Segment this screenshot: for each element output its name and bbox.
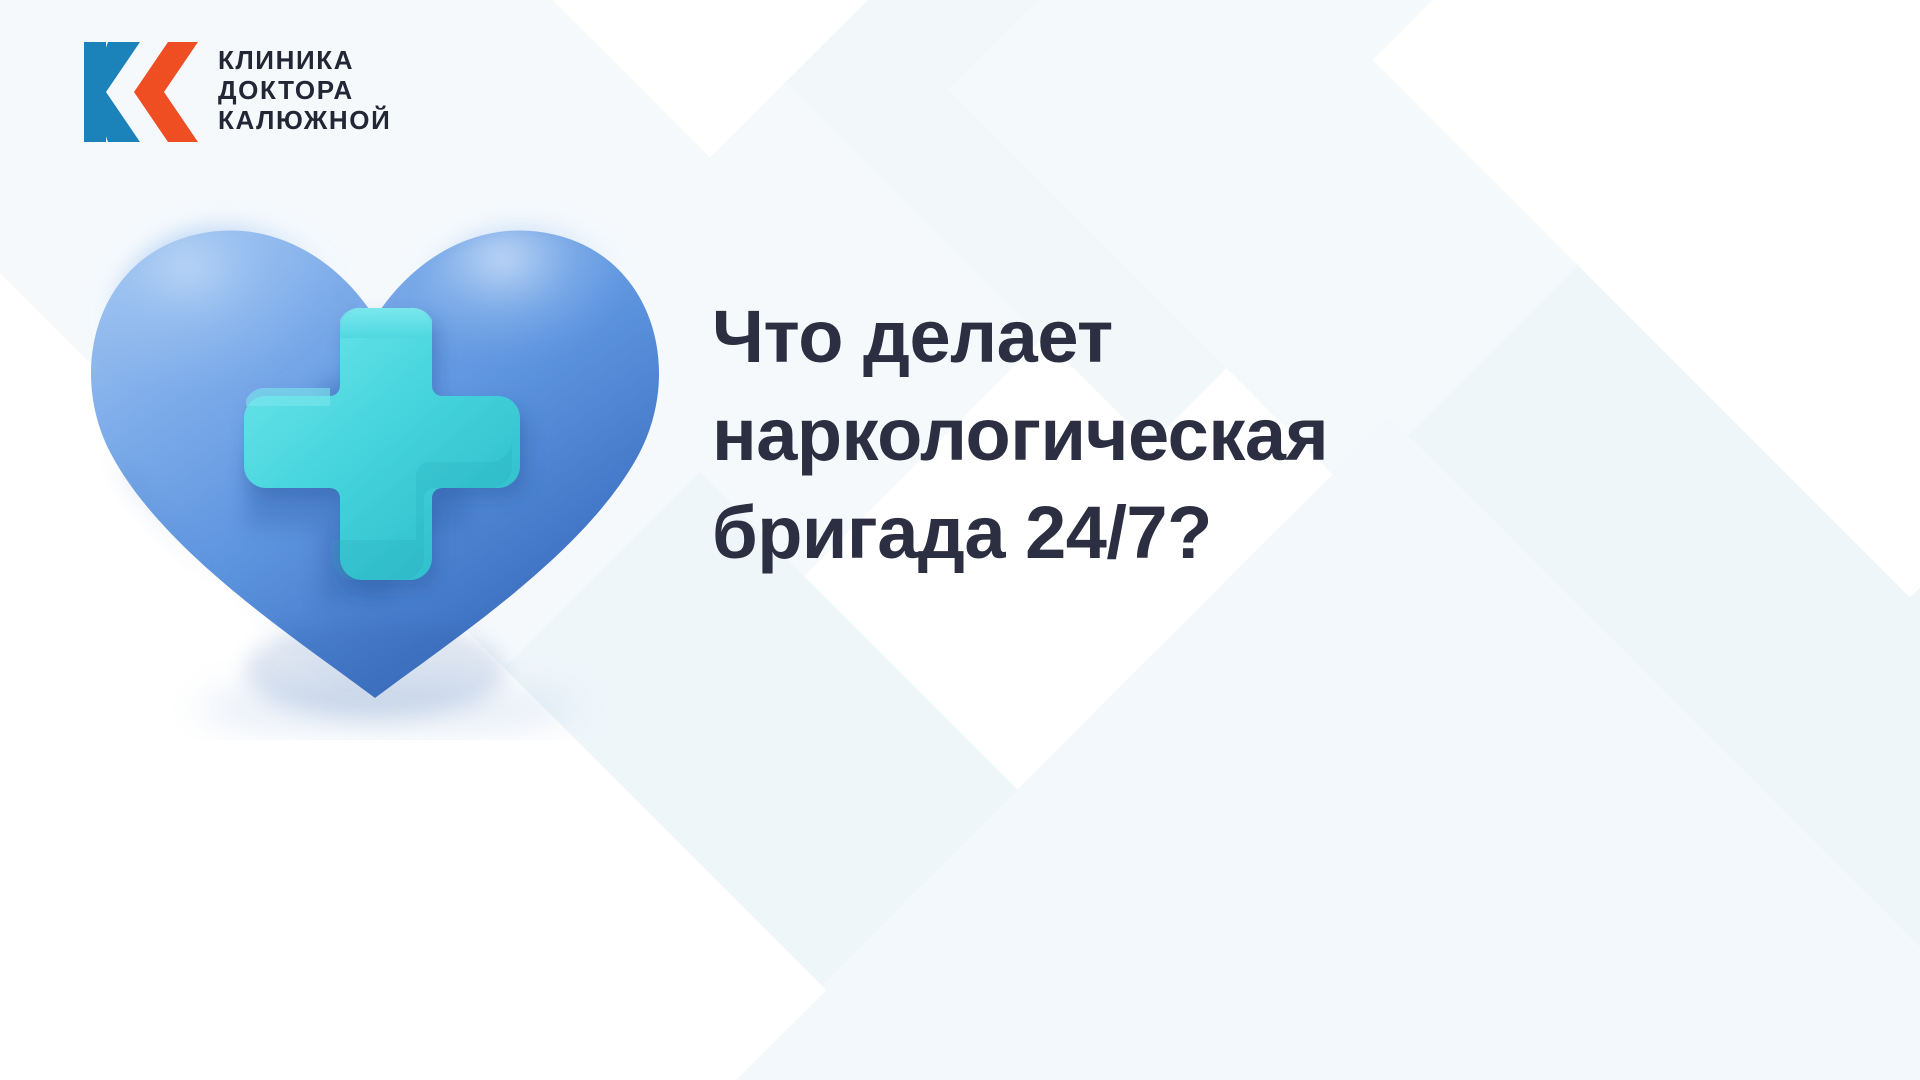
promo-banner: КЛИНИКА ДОКТОРА КАЛЮЖНОЙ bbox=[0, 0, 1920, 1080]
brand-name-line: КЛИНИКА bbox=[218, 45, 391, 75]
headline-line: наркологическая bbox=[712, 386, 1552, 484]
brand-logo[interactable]: КЛИНИКА ДОКТОРА КАЛЮЖНОЙ bbox=[82, 36, 391, 153]
headline: Что делает наркологическая бригада 24/7? bbox=[712, 288, 1552, 582]
kk-chevron-logo-icon bbox=[82, 36, 200, 153]
headline-line: бригада 24/7? bbox=[712, 484, 1552, 582]
brand-name-line: КАЛЮЖНОЙ bbox=[218, 105, 391, 135]
headline-line: Что делает bbox=[712, 288, 1552, 386]
brand-name: КЛИНИКА ДОКТОРА КАЛЮЖНОЙ bbox=[218, 45, 391, 135]
brand-name-line: ДОКТОРА bbox=[218, 75, 391, 105]
heart-with-medical-cross-icon bbox=[70, 200, 690, 740]
